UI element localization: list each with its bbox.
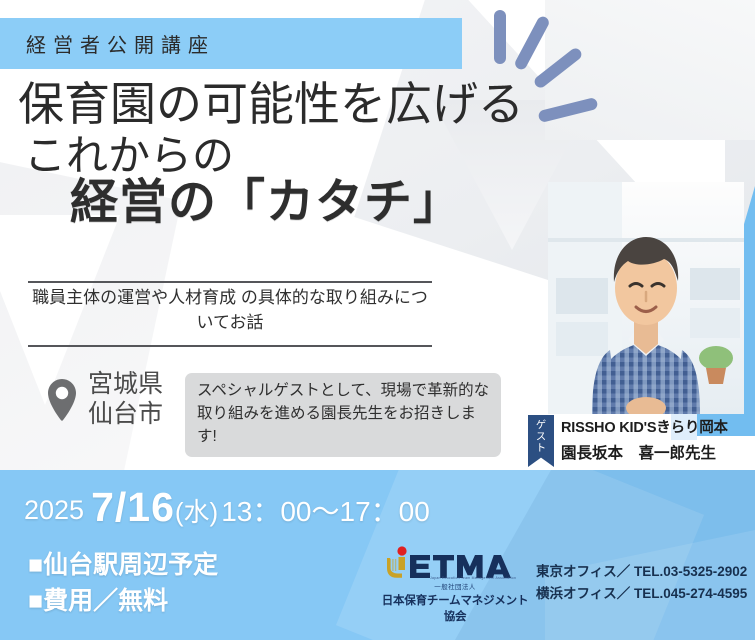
header-band-label: 経営者公開講座 <box>26 29 215 58</box>
schedule-day-of-week: (水) <box>175 497 218 527</box>
divider-top <box>28 281 432 283</box>
guest-ribbon: ゲスト <box>528 415 554 467</box>
detail-venue: ■仙台駅周辺予定 <box>28 548 218 584</box>
contact-yokohama: 横浜オフィス／ TEL.045-274-4595 <box>536 583 747 605</box>
schedule-year: 2025 <box>24 495 84 525</box>
title-line-2: これからの <box>24 132 538 179</box>
divider-bottom <box>28 345 432 347</box>
jetma-logo: Japan Education Team Management Associat… <box>380 546 530 624</box>
guest-person-name: 園長坂本 喜一郎先生 <box>561 441 728 463</box>
header-band: 経営者公開講座 <box>0 18 462 69</box>
title-line-1: 保育園の可能性を広げる <box>18 80 538 130</box>
guest-caption: ゲスト RISSHO KID'Sきらり岡本 園長坂本 喜一郎先生 <box>528 415 755 467</box>
guest-organization: RISSHO KID'Sきらり岡本 <box>561 416 728 437</box>
logo-org-name: 日本保育チームマネジメント協会 <box>380 592 530 624</box>
contact-tokyo: 東京オフィス／ TEL.03-5325-2902 <box>536 561 747 583</box>
contact-info: 東京オフィス／ TEL.03-5325-2902 横浜オフィス／ TEL.045… <box>536 561 747 605</box>
title-line-3: 経営の「カタチ」 <box>70 177 538 230</box>
headline-block: 保育園の可能性を広げる これからの 経営の「カタチ」 <box>18 80 538 230</box>
guest-photo <box>548 182 744 414</box>
location-text: 宮城県 仙台市 <box>88 370 163 429</box>
guest-portrait-illustration <box>548 182 744 414</box>
logo-tagline: Japan Education Team Management Associat… <box>430 576 516 580</box>
location-row: 宮城県 仙台市 <box>46 370 163 429</box>
jetma-wordmark-icon: Japan Education Team Management Associat… <box>380 546 530 580</box>
guest-name-group: RISSHO KID'Sきらり岡本 園長坂本 喜一郎先生 <box>561 415 728 463</box>
logo-corp-type: 一般社団法人 <box>380 581 530 591</box>
guest-ribbon-label: ゲスト <box>534 419 549 454</box>
seminar-poster: 経営者公開講座 保育園の可能性を広げる これからの 経営の「カタチ」 職員主体の… <box>0 0 755 640</box>
special-guest-callout: スペシャルゲストとして、現場で革新的な 取り組みを進める園長先生をお招きします! <box>185 373 501 457</box>
schedule-line: 20257/16(水)13：00～17：00 <box>24 484 430 531</box>
schedule-time: 13：00～17：00 <box>221 496 430 527</box>
map-pin-icon <box>46 378 78 422</box>
detail-list: ■仙台駅周辺予定 ■費用／無料 <box>28 548 218 619</box>
schedule-date: 7/16 <box>91 484 175 530</box>
subtitle-text: 職員主体の運営や人材育成 の具体的な取り組みについてお話 <box>28 286 432 335</box>
detail-fee: ■費用／無料 <box>28 584 218 620</box>
